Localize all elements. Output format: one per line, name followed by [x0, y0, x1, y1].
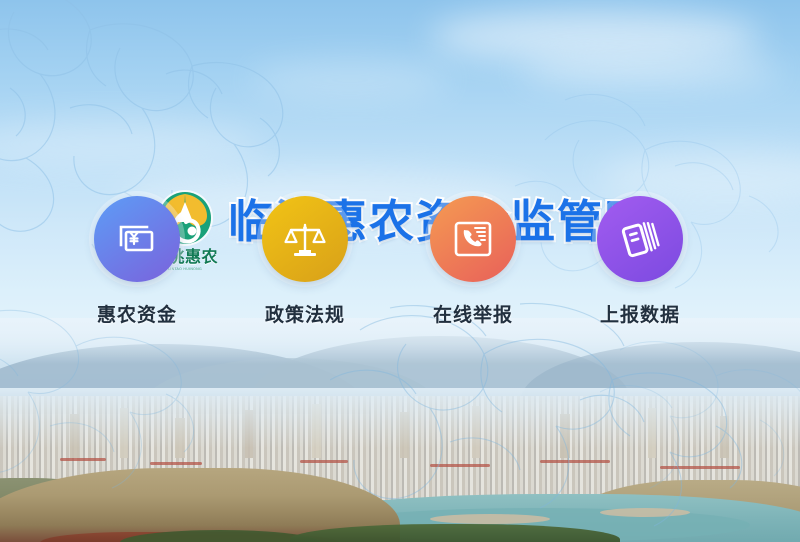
river-shoal	[430, 514, 550, 524]
nav-circle[interactable]	[94, 196, 180, 282]
telephone-report-icon	[450, 216, 496, 262]
atmospheric-fog	[0, 388, 800, 448]
nav-circle[interactable]	[430, 196, 516, 282]
nav-circle[interactable]	[262, 196, 348, 282]
site-header: 临洮惠农 LINTAO HUINONG 临洮惠农资金监管网	[0, 92, 800, 184]
balance-scales-icon	[282, 216, 328, 262]
quick-nav: 惠农资金 政策法规	[0, 196, 800, 336]
nav-item-huinong-zijin[interactable]: 惠农资金	[62, 196, 212, 327]
nav-label: 在线举报	[398, 300, 548, 327]
nav-circle[interactable]	[597, 196, 683, 282]
nav-item-shangbao-shuju[interactable]: 上报数据	[565, 196, 715, 327]
cloud-wisp	[520, 54, 780, 88]
city-panorama-photo	[0, 318, 800, 542]
red-roof	[300, 460, 348, 463]
nav-item-zaixian-jubao[interactable]: 在线举报	[398, 196, 548, 327]
banner-stage: 临洮惠农 LINTAO HUINONG 临洮惠农资金监管网 惠农资金	[0, 0, 800, 542]
book-data-icon	[617, 216, 663, 262]
red-roof	[430, 464, 490, 467]
nav-label: 政策法规	[230, 300, 380, 327]
river-shoal	[600, 508, 690, 517]
nav-item-zhengce-fagui[interactable]: 政策法规	[230, 196, 380, 327]
red-roof	[660, 466, 740, 469]
red-roof	[60, 458, 106, 461]
red-roof	[540, 460, 610, 463]
red-roof	[150, 462, 202, 465]
nav-label: 上报数据	[565, 300, 715, 327]
nav-label: 惠农资金	[62, 300, 212, 327]
cloud-wisp	[430, 10, 760, 62]
money-banknote-icon	[114, 216, 160, 262]
